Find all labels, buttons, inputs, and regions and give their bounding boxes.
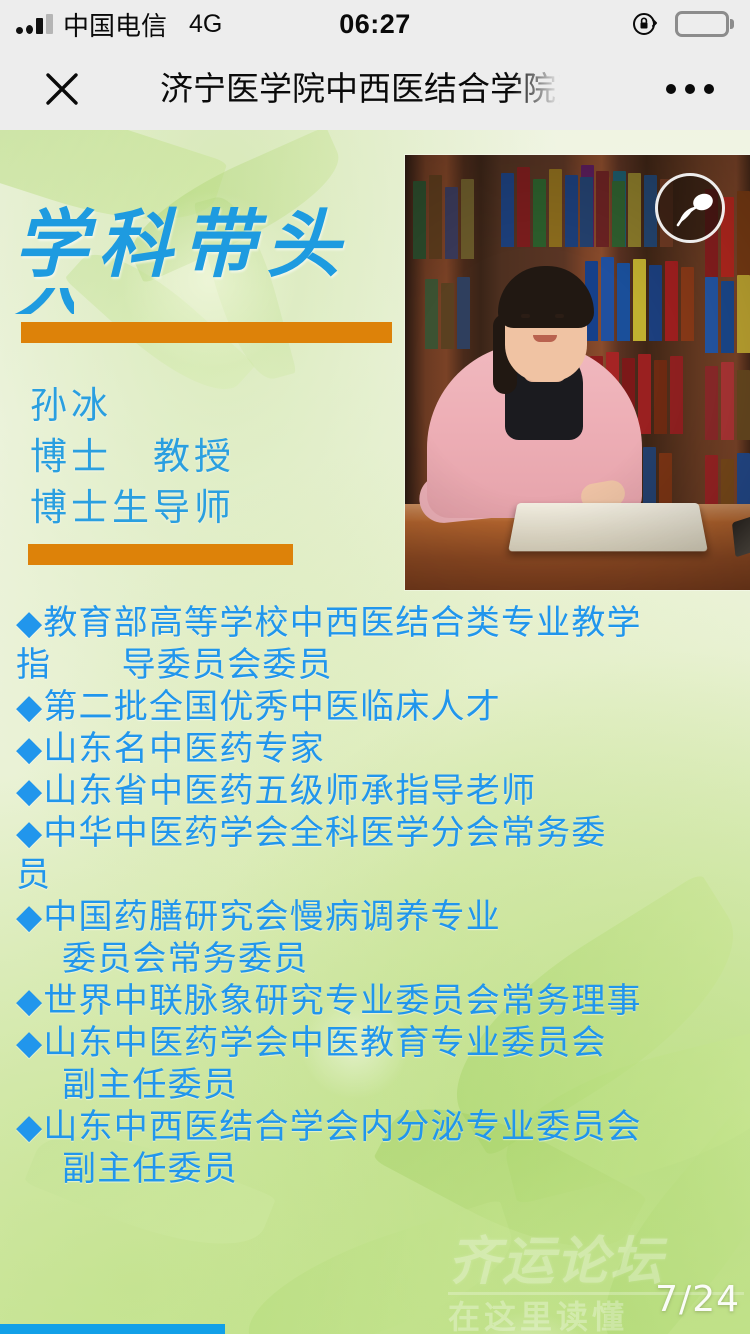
list-item: ◆山东中医药学会中医教育专业委员会	[16, 1022, 742, 1064]
book-row	[705, 360, 750, 440]
leaf-feather-logo-icon	[655, 173, 725, 243]
portrait-photo	[405, 155, 750, 590]
list-item: ◆世界中联脉象研究专业委员会常务理事	[16, 980, 742, 1022]
slide-canvas[interactable]: 学科带头 人 孙冰 博士 教授 博士生导师	[0, 130, 750, 1334]
page-scroll-progress[interactable]	[0, 1324, 750, 1334]
list-item: ◆第二批全国优秀中医临床人才	[16, 686, 742, 728]
navigation-bar: 济宁医学院中西医结合学院⟩	[0, 48, 750, 130]
page-indicator: 7/24	[655, 1279, 740, 1320]
status-bar: 中国电信 4G 06:27	[0, 0, 750, 48]
list-item-continuation: 委员会常务委员	[16, 938, 742, 980]
close-icon[interactable]	[38, 65, 86, 113]
book-row	[413, 173, 474, 259]
list-item: ◆山东名中医药专家	[16, 728, 742, 770]
list-item: ◆山东省中医药五级师承指导老师	[16, 770, 742, 812]
clipped-char-glyph: 人	[14, 288, 74, 314]
person-name: 孙冰	[30, 380, 370, 431]
battery-full-icon	[675, 11, 734, 37]
list-item-continuation: 副主任委员	[16, 1064, 742, 1106]
open-book	[508, 503, 708, 551]
accent-bar-bottom	[28, 544, 293, 565]
book-row	[705, 273, 750, 353]
person-info-block: 孙冰 博士 教授 博士生导师	[30, 380, 370, 533]
phone-screen: 中国电信 4G 06:27 济宁医学院中	[0, 0, 750, 1334]
list-item: ◆山东中西医结合学会内分泌专业委员会	[16, 1106, 742, 1148]
person-advisor-title: 博士生导师	[30, 482, 370, 533]
slide-headline: 学科带头	[14, 205, 414, 285]
credentials-list: ◆教育部高等学校中西医结合类专业教学 指 导委员会委员 ◆第二批全国优秀中医临床…	[16, 602, 742, 1190]
list-item: ◆中华中医药学会全科医学分会常务委	[16, 812, 742, 854]
list-item: ◆中国药膳研究会慢病调养专业	[16, 896, 742, 938]
person-mouth	[533, 335, 557, 342]
list-item-continuation: 指 导委员会委员	[16, 644, 742, 686]
status-bar-right	[631, 10, 734, 38]
more-options-icon[interactable]	[666, 84, 714, 94]
book-row	[425, 275, 470, 349]
decorative-leaf	[233, 1199, 527, 1334]
accent-bar-top	[21, 322, 392, 343]
list-item-continuation: 员	[16, 854, 742, 896]
page-title: 济宁医学院中西医结合学院⟩	[160, 64, 560, 114]
person-degree-title: 博士 教授	[30, 431, 370, 482]
person-eye-left	[521, 314, 530, 318]
page-scroll-progress-fill	[0, 1324, 225, 1334]
person-eye-right	[555, 314, 564, 318]
slide-headline-clipped-char: 人	[14, 288, 74, 314]
list-item-continuation: 副主任委员	[16, 1148, 742, 1190]
book-row	[585, 255, 694, 341]
list-item: ◆教育部高等学校中西医结合类专业教学	[16, 602, 742, 644]
rotation-lock-icon	[631, 10, 659, 38]
